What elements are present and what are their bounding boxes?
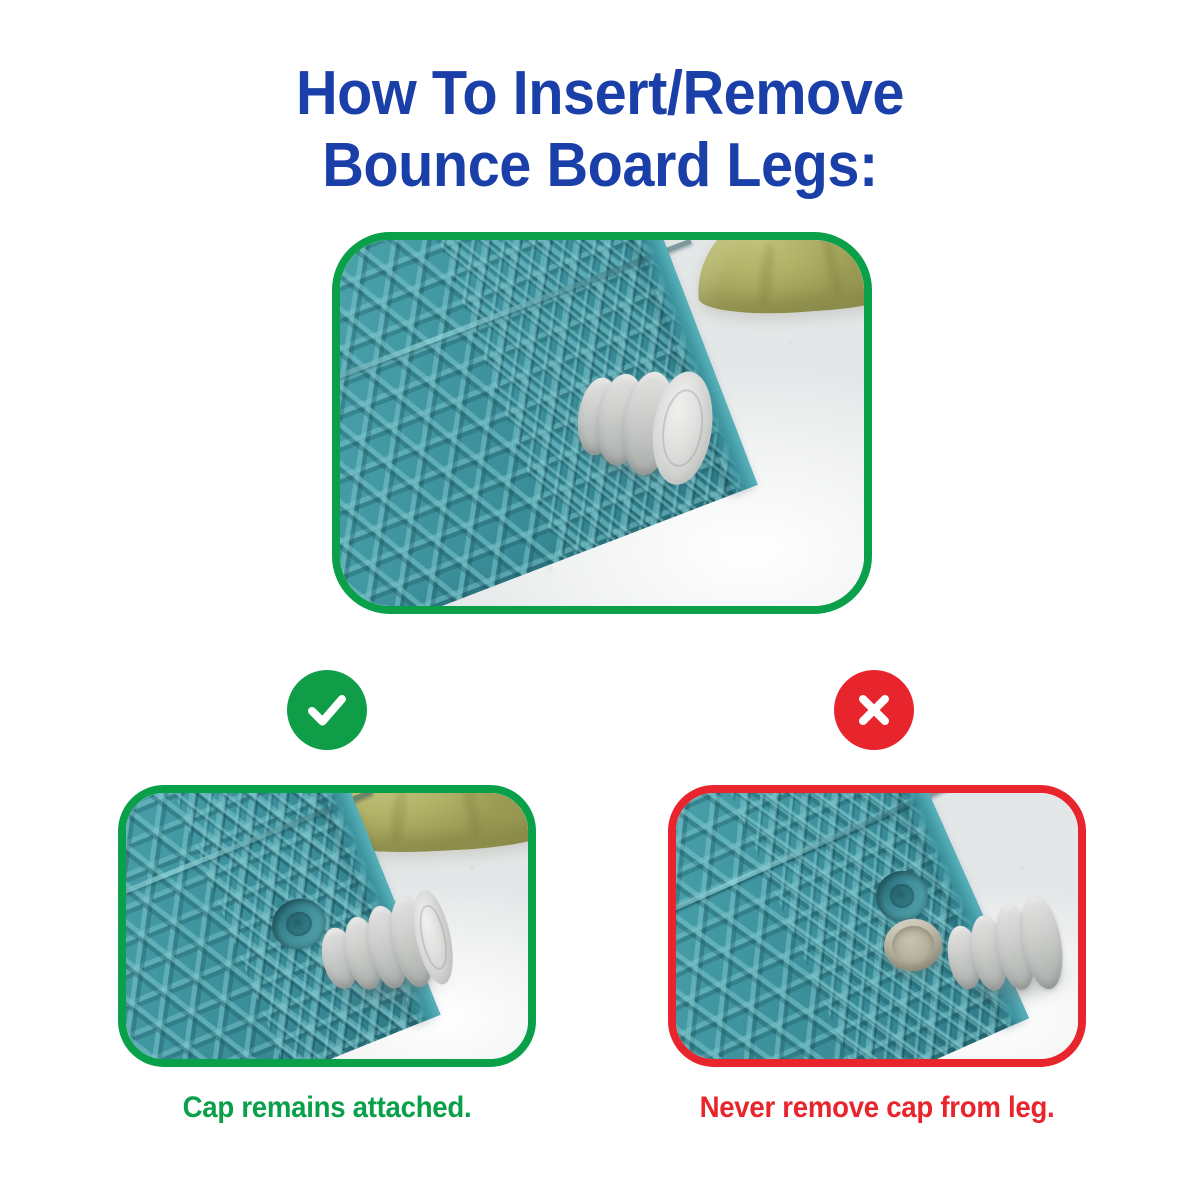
socket-inner: [283, 908, 316, 939]
leg-installed-photo: [340, 240, 864, 606]
rubber-leg-installed: [568, 349, 725, 497]
leg-removed-with-cap-panel: [118, 785, 536, 1067]
title-line-1: How To Insert/Remove: [42, 58, 1158, 130]
check-badge: [287, 670, 367, 750]
x-icon: [853, 689, 895, 731]
infographic-root: How To Insert/Remove Bounce Board Legs:: [0, 0, 1200, 1200]
olive-fabric: [692, 240, 864, 319]
leg-removed-with-cap-photo: [126, 793, 528, 1059]
leg-installed-photo-panel: [332, 232, 872, 614]
caption-good: Cap remains attached.: [135, 1090, 520, 1126]
check-icon: [304, 687, 350, 733]
x-badge: [834, 670, 914, 750]
caption-bad: Never remove cap from leg.: [685, 1090, 1070, 1126]
cap-separated-photo: [676, 793, 1078, 1059]
cap-separated-panel: [668, 785, 1086, 1067]
rubber-leg-without-cap: [939, 883, 1078, 1019]
page-title: How To Insert/Remove Bounce Board Legs:: [0, 58, 1200, 202]
socket-inner: [886, 880, 918, 912]
title-line-2: Bounce Board Legs:: [42, 130, 1158, 202]
